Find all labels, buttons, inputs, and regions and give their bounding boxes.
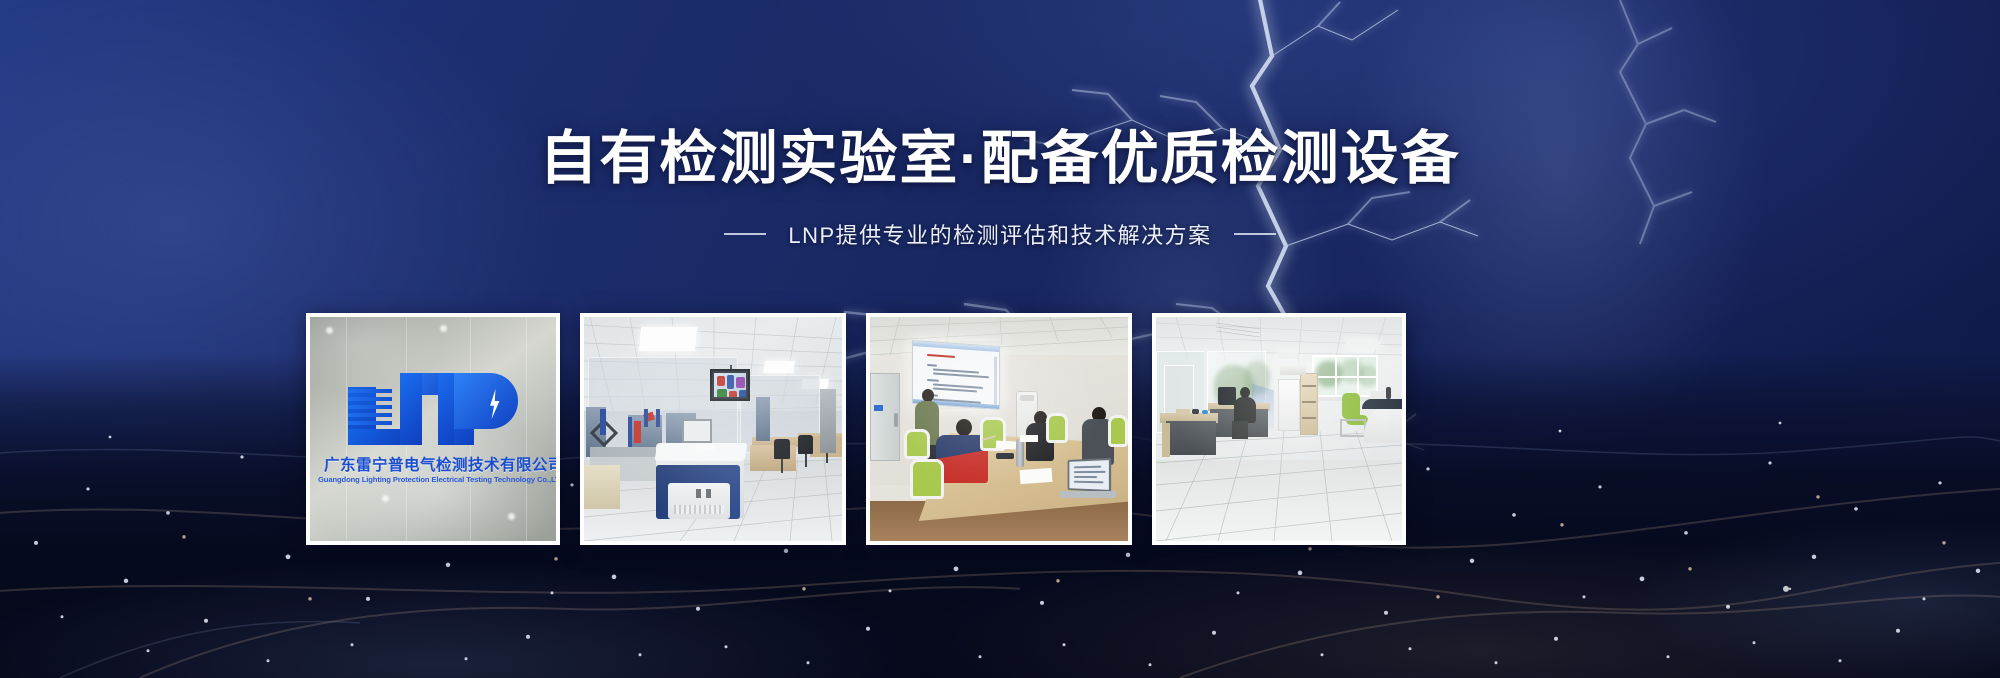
door-sign: [874, 405, 883, 411]
phone: [996, 453, 1014, 459]
console-port: [706, 489, 711, 498]
company-name-en: Guangdong Lighting Protection Electrical…: [318, 475, 556, 484]
equipment-part: [656, 409, 660, 427]
thermos: [1016, 439, 1024, 467]
hero-banner: 自有检测实验室·配备优质检测设备 LNP提供专业的检测评估和技术解决方案: [0, 0, 2000, 678]
desk-side: [1162, 423, 1170, 457]
dash-right-icon: [1234, 233, 1276, 235]
laptop: [1068, 458, 1112, 492]
photo-office[interactable]: [1152, 313, 1406, 545]
computer-monitor: [1218, 387, 1236, 405]
attendee-head: [956, 419, 972, 436]
door-frame: [820, 389, 836, 453]
meeting-chair: [910, 459, 944, 499]
desk-front-panel: [1166, 421, 1216, 455]
console-port: [696, 489, 701, 498]
desk-item: [1192, 409, 1199, 414]
door-handle: [894, 413, 898, 427]
wall-highlight-dot: [508, 513, 515, 520]
office-chair: [774, 439, 790, 459]
counter-top: [1362, 399, 1402, 409]
equipment-part: [634, 421, 641, 443]
documents: [1020, 435, 1038, 442]
subtitle: LNP提供专业的检测评估和技术解决方案: [788, 218, 1211, 250]
dash-left-icon: [724, 233, 766, 235]
meeting-chair: [1108, 415, 1128, 447]
cabinet: [756, 397, 770, 441]
counter-item: [1370, 391, 1384, 399]
page-title: 自有检测实验室·配备优质检测设备: [0, 111, 2000, 195]
worker-body: [1234, 397, 1256, 423]
documents: [996, 440, 1016, 449]
photo-meeting-room[interactable]: [866, 313, 1132, 545]
meeting-chair: [904, 429, 930, 459]
company-name-cn: 广东雷宁普电气检测技术有限公司: [324, 453, 550, 475]
office-image: [1156, 317, 1402, 541]
equipment-part: [600, 409, 606, 435]
subtitle-row: LNP提供专业的检测评估和技术解决方案: [0, 218, 2000, 250]
laptop-base: [1060, 491, 1116, 498]
equipment-part: [644, 409, 648, 427]
wooden-frame: [584, 465, 620, 509]
worker-legs: [1232, 421, 1248, 439]
chair-frame: [1340, 419, 1366, 437]
wall-highlight-dot: [382, 495, 389, 502]
counter-item: [1386, 387, 1391, 399]
desk-item: [1202, 410, 1208, 414]
lnp-logo-icon: [342, 373, 532, 445]
logo-wall-image: 广东雷宁普电气检测技术有限公司 Guangdong Lighting Prote…: [310, 317, 556, 541]
laboratory-image: [584, 317, 842, 541]
photo-strip: 广东雷宁普电气检测技术有限公司 Guangdong Lighting Prote…: [306, 313, 1406, 545]
console-monitor: [682, 419, 712, 443]
meeting-room-image: [870, 317, 1128, 541]
documents: [1020, 468, 1053, 484]
console-vent: [674, 505, 724, 514]
meeting-chair: [1046, 413, 1068, 443]
photo-laboratory[interactable]: [580, 313, 846, 545]
wall-highlight-dot: [326, 327, 333, 334]
wall-highlight-dot: [440, 325, 447, 332]
office-chair: [798, 435, 813, 454]
photo-logo-wall[interactable]: 广东雷宁普电气检测技术有限公司 Guangdong Lighting Prote…: [306, 313, 560, 545]
desk-item: [1176, 409, 1190, 415]
